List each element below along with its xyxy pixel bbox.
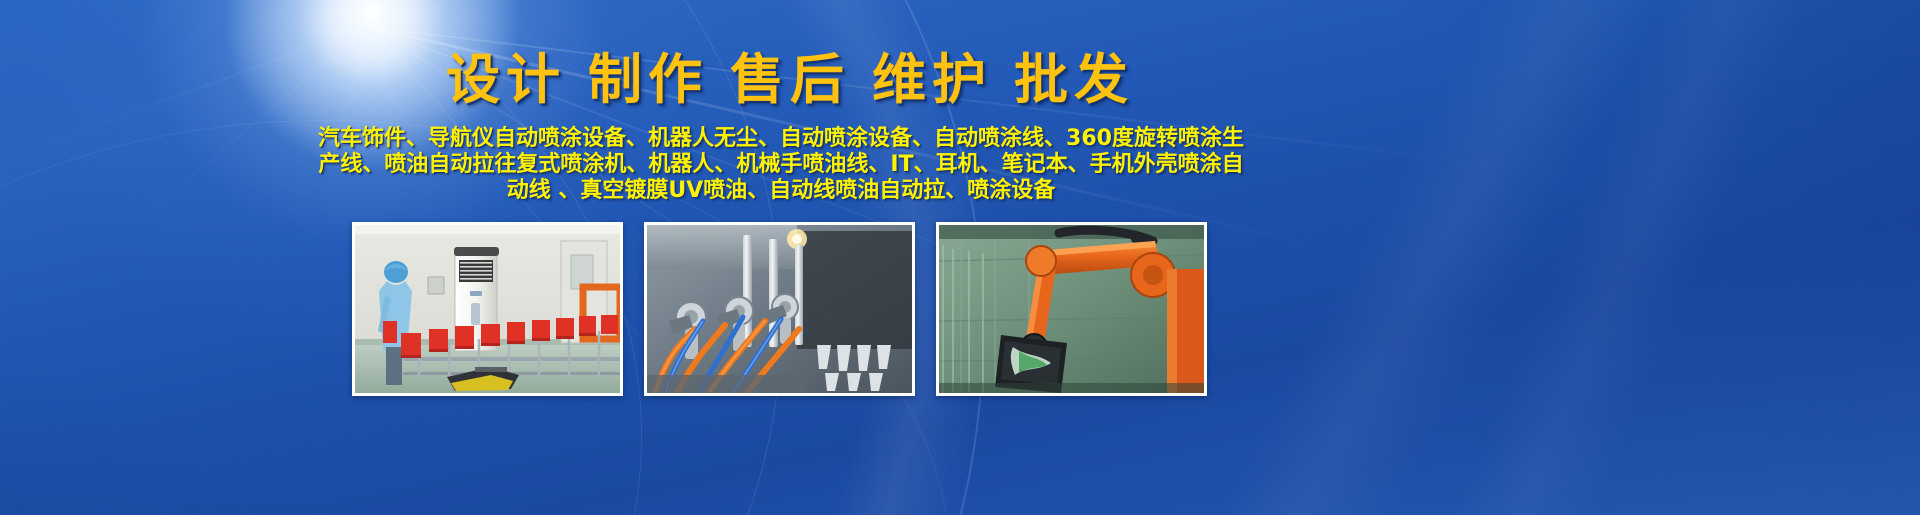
headline-word-aftersales: 售后 — [730, 48, 850, 111]
sun-ray-6 — [372, 0, 745, 28]
subcopy-line-1: 汽车饰件、导航仪自动喷涂设备、机器人无尘、自动喷涂设备、自动喷涂线、360度旋转… — [0, 126, 1562, 152]
headline-word-design: 设计 — [446, 48, 566, 111]
sun-ray-7 — [372, 0, 538, 27]
headline-word-maintenance: 维护 — [872, 48, 992, 111]
photo-strip — [352, 222, 1207, 396]
subcopy-line-2: 产线、喷油自动拉往复式喷涂机、机器人、机械手喷油线、IT、耳机、笔记本、手机外壳… — [0, 152, 1562, 178]
promo-banner: 设计制作售后维护批发 汽车饰件、导航仪自动喷涂设备、机器人无尘、自动喷涂设备、自… — [0, 0, 1920, 515]
headline-word-wholesale: 批发 — [1014, 48, 1134, 111]
spray-gun-equipment-photo — [644, 222, 915, 396]
robot-arm-coating-photo — [936, 222, 1207, 396]
banner-subcopy: 汽车饰件、导航仪自动喷涂设备、机器人无尘、自动喷涂设备、自动喷涂线、360度旋转… — [0, 126, 1562, 204]
banner-headline: 设计制作售后维护批发 — [0, 52, 1580, 109]
subcopy-line-3: 动线 、真空镀膜UV喷油、自动线喷油自动拉、喷涂设备 — [0, 178, 1562, 204]
cleanroom-coating-line-photo — [352, 222, 623, 396]
headline-word-manufacture: 制作 — [588, 48, 708, 111]
